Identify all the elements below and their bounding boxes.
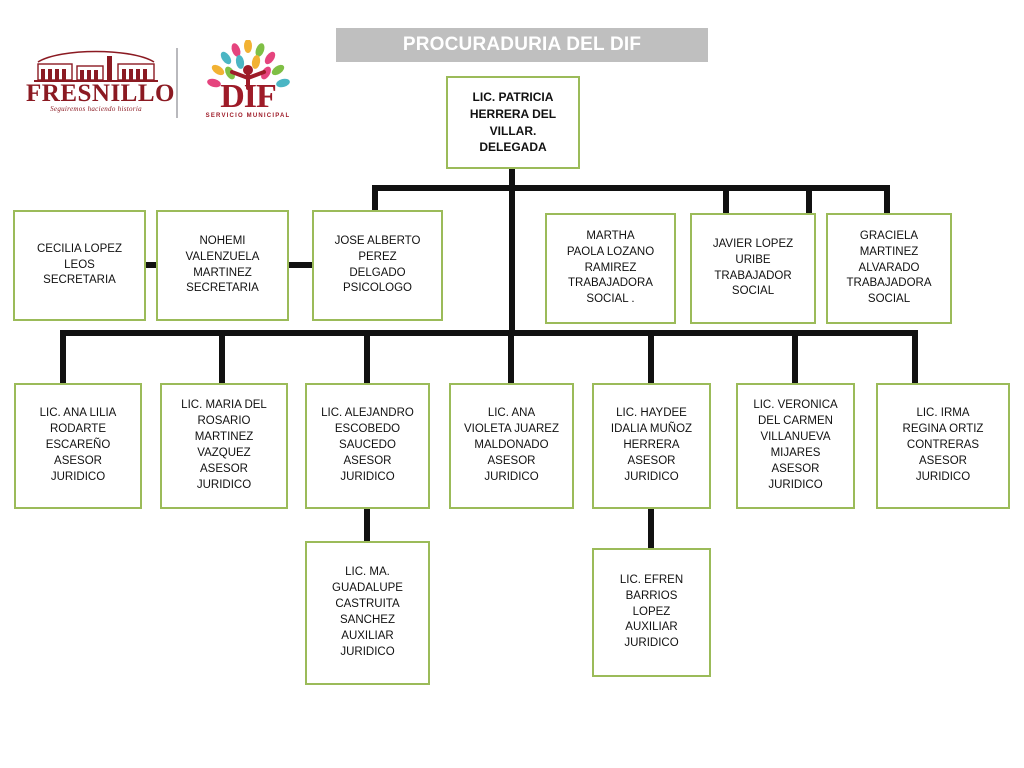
org-node-line: DEL CARMEN <box>753 414 837 430</box>
org-node-level4-1[interactable]: LIC. EFRENBARRIOSLOPEZAUXILIARJURIDICO <box>592 548 711 677</box>
org-node-line: LEOS <box>37 258 122 274</box>
org-node-line: MARTHA <box>567 229 654 245</box>
org-node-line: SECRETARIA <box>186 281 260 297</box>
org-node-line: PSICOLOGO <box>335 281 421 297</box>
org-node-line: DELGADO <box>335 266 421 282</box>
org-node-line: LIC. MA. <box>332 565 403 581</box>
org-chart-canvas: FRESNILLO Seguiremos haciendo historia <box>0 0 1024 768</box>
org-node-level3-6[interactable]: LIC. IRMAREGINA ORTIZCONTRERASASESORJURI… <box>876 383 1010 509</box>
org-node-text: LIC. IRMAREGINA ORTIZCONTRERASASESORJURI… <box>903 406 984 485</box>
org-node-text: LIC. HAYDEEIDALIA MUÑOZHERRERAASESORJURI… <box>611 406 692 485</box>
org-node-line: ESCOBEDO <box>321 422 414 438</box>
org-node-text: LIC. VERONICADEL CARMENVILLANUEVAMIJARES… <box>753 398 837 493</box>
org-node-line: AUXILIAR <box>620 620 683 636</box>
org-node-line: IDALIA MUÑOZ <box>611 422 692 438</box>
org-node-text: JAVIER LOPEZURIBETRABAJADORSOCIAL <box>713 237 793 300</box>
org-node-line: LIC. VERONICA <box>753 398 837 414</box>
fresnillo-arch-icon <box>34 50 158 84</box>
org-node-line: VAZQUEZ <box>181 446 267 462</box>
org-node-line: ASESOR <box>464 454 559 470</box>
org-node-line: GRACIELA <box>847 229 932 245</box>
org-node-line: ASESOR <box>903 454 984 470</box>
org-node-level3-1[interactable]: LIC. MARIA DELROSARIOMARTINEZVAZQUEZASES… <box>160 383 288 509</box>
org-node-line: TRABAJADORA <box>847 276 932 292</box>
connector-spine-to-level3 <box>509 185 515 335</box>
dif-logo: DIF SERVICIO MUNICIPAL <box>196 40 300 126</box>
fresnillo-wordmark: FRESNILLO <box>26 81 166 106</box>
connector-level3-drop-6 <box>912 330 918 385</box>
org-node-line: JURIDICO <box>903 470 984 486</box>
connector-level2-drop-javier <box>806 185 812 216</box>
org-node-line: VILLAR. <box>470 123 556 140</box>
org-node-line: CASTRUITA <box>332 597 403 613</box>
org-node-line: TRABAJADORA <box>567 276 654 292</box>
org-node-line: LOPEZ <box>620 605 683 621</box>
org-node-line: JURIDICO <box>464 470 559 486</box>
org-node-level2-1[interactable]: NOHEMIVALENZUELAMARTINEZSECRETARIA <box>156 210 289 321</box>
org-node-line: MARTINEZ <box>847 245 932 261</box>
org-node-line: ASESOR <box>753 462 837 478</box>
org-node-line: ASESOR <box>611 454 692 470</box>
connector-level3-drop-1 <box>219 330 225 385</box>
org-node-line: JURIDICO <box>611 470 692 486</box>
org-node-line: MIJARES <box>753 446 837 462</box>
org-node-line: LIC. ANA <box>464 406 559 422</box>
org-node-line: LIC. EFREN <box>620 573 683 589</box>
org-node-line: GUADALUPE <box>332 581 403 597</box>
org-node-line: SANCHEZ <box>332 613 403 629</box>
org-node-text: LIC. EFRENBARRIOSLOPEZAUXILIARJURIDICO <box>620 573 683 652</box>
org-node-line: AUXILIAR <box>332 629 403 645</box>
org-node-level3-4[interactable]: LIC. HAYDEEIDALIA MUÑOZHERRERAASESORJURI… <box>592 383 711 509</box>
connector-level3-drop-3 <box>508 330 514 385</box>
org-node-line: URIBE <box>713 253 793 269</box>
org-node-line: LIC. PATRICIA <box>470 89 556 106</box>
org-node-line: LIC. ALEJANDRO <box>321 406 414 422</box>
org-node-line: LIC. ANA LILIA <box>40 406 117 422</box>
org-node-line: LIC. IRMA <box>903 406 984 422</box>
connector-level3-drop-4 <box>648 330 654 385</box>
org-node-text: LIC. ANAVIOLETA JUAREZMALDONADOASESORJUR… <box>464 406 559 485</box>
org-node-text: LIC. PATRICIAHERRERA DELVILLAR.DELEGADA <box>470 89 556 155</box>
org-node-text: CECILIA LOPEZLEOSSECRETARIA <box>37 242 122 290</box>
org-node-line: VALENZUELA <box>186 250 260 266</box>
page-title-bar: PROCURADURIA DEL DIF <box>336 28 708 62</box>
org-node-line: VIOLETA JUAREZ <box>464 422 559 438</box>
org-node-line: CONTRERAS <box>903 438 984 454</box>
org-node-line: ALVARADO <box>847 261 932 277</box>
connector-level2-drop-martha <box>723 185 729 216</box>
org-node-level3-3[interactable]: LIC. ANAVIOLETA JUAREZMALDONADOASESORJUR… <box>449 383 574 509</box>
dif-wordmark: DIF <box>196 80 300 114</box>
org-node-level4-0[interactable]: LIC. MA.GUADALUPECASTRUITASANCHEZAUXILIA… <box>305 541 430 685</box>
org-node-line: JAVIER LOPEZ <box>713 237 793 253</box>
org-node-line: LIC. MARIA DEL <box>181 398 267 414</box>
org-node-line: JURIDICO <box>40 470 117 486</box>
org-node-line: TRABAJADOR <box>713 269 793 285</box>
org-node-line: JURIDICO <box>332 645 403 661</box>
connector-link-nohemi-jose <box>286 262 314 268</box>
org-node-text: LIC. ALEJANDROESCOBEDOSAUCEDOASESORJURID… <box>321 406 414 485</box>
org-node-line: ASESOR <box>321 454 414 470</box>
org-node-line: JURIDICO <box>753 478 837 494</box>
org-node-line: DELEGADA <box>470 139 556 156</box>
org-node-line: VILLANUEVA <box>753 430 837 446</box>
org-node-line: ESCAREÑO <box>40 438 117 454</box>
org-node-root-0[interactable]: LIC. PATRICIAHERRERA DELVILLAR.DELEGADA <box>446 76 580 169</box>
org-node-line: JURIDICO <box>181 478 267 494</box>
org-node-line: MALDONADO <box>464 438 559 454</box>
org-node-level3-0[interactable]: LIC. ANA LILIARODARTEESCAREÑOASESORJURID… <box>14 383 142 509</box>
org-node-line: RAMIREZ <box>567 261 654 277</box>
org-node-line: NOHEMI <box>186 234 260 250</box>
org-node-line: PEREZ <box>335 250 421 266</box>
org-node-line: SOCIAL <box>713 284 793 300</box>
connector-level3-drop-2 <box>364 330 370 385</box>
org-node-line: LIC. HAYDEE <box>611 406 692 422</box>
org-node-line: SOCIAL . <box>567 292 654 308</box>
org-node-text: LIC. MA.GUADALUPECASTRUITASANCHEZAUXILIA… <box>332 565 403 660</box>
logo-divider <box>176 48 178 118</box>
org-node-line: JURIDICO <box>620 636 683 652</box>
org-node-line: JOSE ALBERTO <box>335 234 421 250</box>
org-node-text: JOSE ALBERTOPEREZDELGADOPSICOLOGO <box>335 234 421 297</box>
org-node-text: GRACIELAMARTINEZALVARADOTRABAJADORASOCIA… <box>847 229 932 308</box>
connector-level2-bus <box>372 185 890 191</box>
org-node-text: LIC. MARIA DELROSARIOMARTINEZVAZQUEZASES… <box>181 398 267 493</box>
org-node-level2-4[interactable]: JAVIER LOPEZURIBETRABAJADORSOCIAL <box>690 213 816 324</box>
org-node-line: ASESOR <box>40 454 117 470</box>
org-node-line: JURIDICO <box>321 470 414 486</box>
org-node-level2-2[interactable]: JOSE ALBERTOPEREZDELGADOPSICOLOGO <box>312 210 443 321</box>
org-node-level3-2[interactable]: LIC. ALEJANDROESCOBEDOSAUCEDOASESORJURID… <box>305 383 430 509</box>
org-node-line: SECRETARIA <box>37 273 122 289</box>
org-node-line: SOCIAL <box>847 292 932 308</box>
connector-level4-drop-0 <box>364 509 370 543</box>
org-node-line: ROSARIO <box>181 414 267 430</box>
dif-subtitle: SERVICIO MUNICIPAL <box>196 113 300 119</box>
fresnillo-tagline: Seguiremos haciendo historia <box>26 105 166 113</box>
org-node-line: MARTINEZ <box>181 430 267 446</box>
org-node-line: HERRERA DEL <box>470 106 556 123</box>
connector-level2-drop-jose <box>372 185 378 213</box>
org-node-line: RODARTE <box>40 422 117 438</box>
org-node-level3-5[interactable]: LIC. VERONICADEL CARMENVILLANUEVAMIJARES… <box>736 383 855 509</box>
org-node-text: LIC. ANA LILIARODARTEESCAREÑOASESORJURID… <box>40 406 117 485</box>
org-node-line: REGINA ORTIZ <box>903 422 984 438</box>
org-node-line: CECILIA LOPEZ <box>37 242 122 258</box>
fresnillo-logo: FRESNILLO Seguiremos haciendo historia <box>26 50 166 116</box>
org-node-line: MARTINEZ <box>186 266 260 282</box>
org-node-level2-5[interactable]: GRACIELAMARTINEZALVARADOTRABAJADORASOCIA… <box>826 213 952 324</box>
org-node-text: MARTHAPAOLA LOZANORAMIREZTRABAJADORASOCI… <box>567 229 654 308</box>
connector-level3-drop-0 <box>60 330 66 385</box>
connector-level3-bus <box>60 330 918 336</box>
org-node-text: NOHEMIVALENZUELAMARTINEZSECRETARIA <box>186 234 260 297</box>
org-node-line: BARRIOS <box>620 589 683 605</box>
org-node-line: PAOLA LOZANO <box>567 245 654 261</box>
org-node-level2-0[interactable]: CECILIA LOPEZLEOSSECRETARIA <box>13 210 146 321</box>
page-title: PROCURADURIA DEL DIF <box>403 34 641 56</box>
connector-level4-drop-1 <box>648 509 654 549</box>
connector-level2-drop-graciela <box>884 185 890 216</box>
org-node-line: ASESOR <box>181 462 267 478</box>
connector-level3-drop-5 <box>792 330 798 385</box>
org-node-line: HERRERA <box>611 438 692 454</box>
org-node-line: SAUCEDO <box>321 438 414 454</box>
org-node-level2-3[interactable]: MARTHAPAOLA LOZANORAMIREZTRABAJADORASOCI… <box>545 213 676 324</box>
